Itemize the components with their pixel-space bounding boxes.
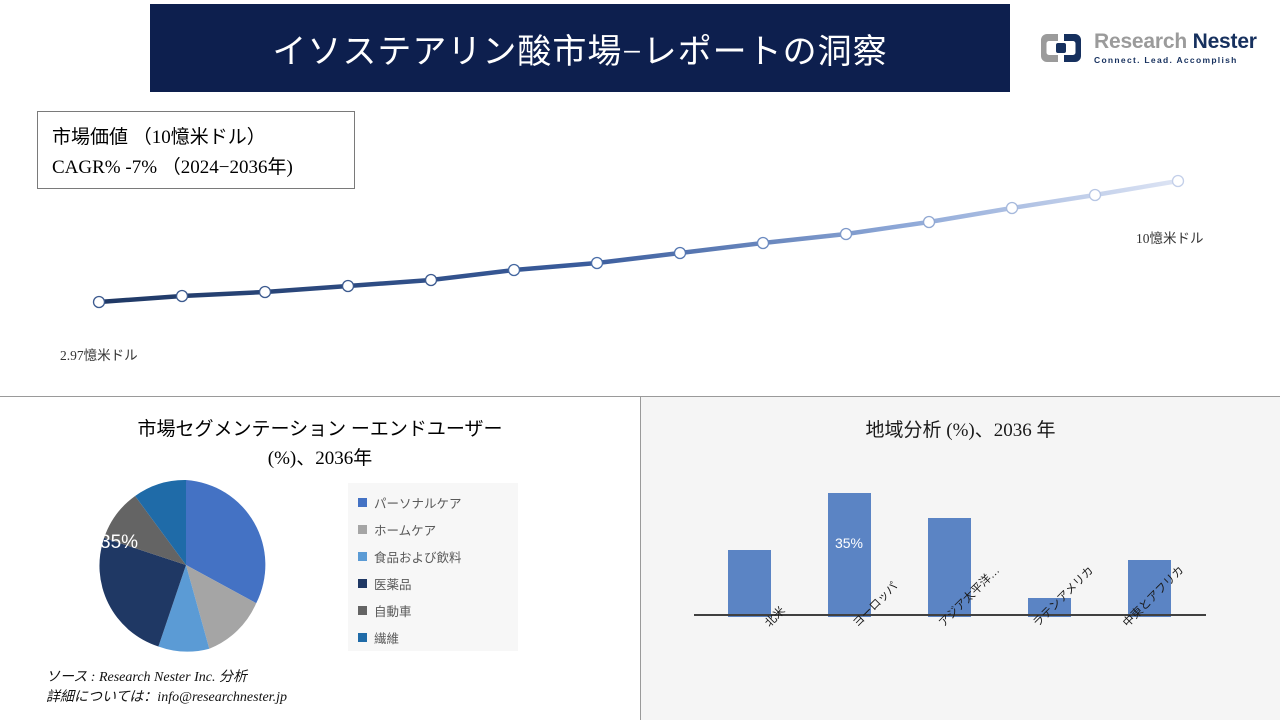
source-note: ソース : Research Nester Inc. 分析 詳細については：in… [46,668,287,709]
pie-chart-title: 市場セグメンテーション ーエンドユーザー (%)、2036年 [40,415,600,474]
legend-item-textile[interactable]: 繊維 [358,624,518,651]
bar-data-label-35: 35% [828,535,871,551]
page-title: イソステアリン酸市場−レポートの洞察 [272,24,887,73]
bar-slot-latin-america [999,469,1099,617]
legend-swatch-icon [358,525,367,534]
legend-label: 食品および飲料 [374,547,462,566]
legend-label: 医薬品 [374,574,412,593]
pie-chart-svg [96,475,276,655]
slide-canvas: イソステアリン酸市場−レポートの洞察 Research Nester Conne… [0,0,1280,720]
legend-swatch-icon [358,552,367,561]
logo-link-icon [1038,31,1086,65]
legend-swatch-icon [358,579,367,588]
pie-slices [99,480,265,652]
line-chart-panel: 2.97憶米ドル 10憶米ドル 2022年 2023年 2024年 2025年 … [0,96,1280,396]
line-series-path [99,181,1178,302]
bar-x-axis-labels: 北米 ヨーロッパ アジア太平洋… ラテンアメリカ 中東とアフリカ [699,619,1199,709]
bar-slot-north-america [699,469,799,617]
bar-chart-panel: 地域分析 (%)、2036 年 35% [641,397,1280,720]
legend-label: 自動車 [374,601,412,620]
bar-europe[interactable]: 35% [828,493,871,617]
legend-item-automotive[interactable]: 自動車 [358,597,518,624]
source-line-1: ソース : Research Nester Inc. 分析 [46,668,287,688]
pie-title-line-2: (%)、2036年 [40,444,600,473]
bar-plot-area: 35% [699,467,1199,617]
legend-label: パーソナルケア [374,493,462,512]
legend-swatch-icon [358,633,367,642]
line-chart-svg [0,96,1280,396]
legend-item-home-care[interactable]: ホームケア [358,516,518,543]
line-start-annotation: 2.97憶米ドル [60,344,138,364]
brand-logo: Research Nester Connect. Lead. Accomplis… [1038,22,1262,74]
source-line-2: 詳細については：info@researchnester.jp [46,688,287,708]
logo-tagline: Connect. Lead. Accomplish [1094,56,1257,65]
bar-series: 35% [699,469,1199,617]
legend-item-food-beverage[interactable]: 食品および飲料 [358,543,518,570]
pie-legend: パーソナルケア ホームケア 食品および飲料 医薬品 自動車 繊維 [348,483,518,651]
pie-title-line-1: 市場セグメンテーション ーエンドユーザー [40,415,600,444]
bar-slot-asia-pacific [899,469,999,617]
line-markers [94,176,1184,308]
pie-data-label-35: 35% [100,532,138,554]
legend-item-personal-care[interactable]: パーソナルケア [358,489,518,516]
line-end-annotation: 10憶米ドル [1136,227,1204,247]
header-banner: イソステアリン酸市場−レポートの洞察 [150,4,1010,92]
legend-item-pharmaceutical[interactable]: 医薬品 [358,570,518,597]
legend-label: ホームケア [374,520,436,539]
bar-north-america[interactable] [728,550,771,617]
logo-text: Research Nester Connect. Lead. Accomplis… [1094,31,1257,65]
logo-name-research: Research [1094,30,1193,53]
legend-swatch-icon [358,498,367,507]
logo-name-nester: Nester [1193,30,1257,53]
bar-chart-title: 地域分析 (%)、2036 年 [641,415,1280,442]
legend-swatch-icon [358,606,367,615]
legend-label: 繊維 [374,628,399,647]
